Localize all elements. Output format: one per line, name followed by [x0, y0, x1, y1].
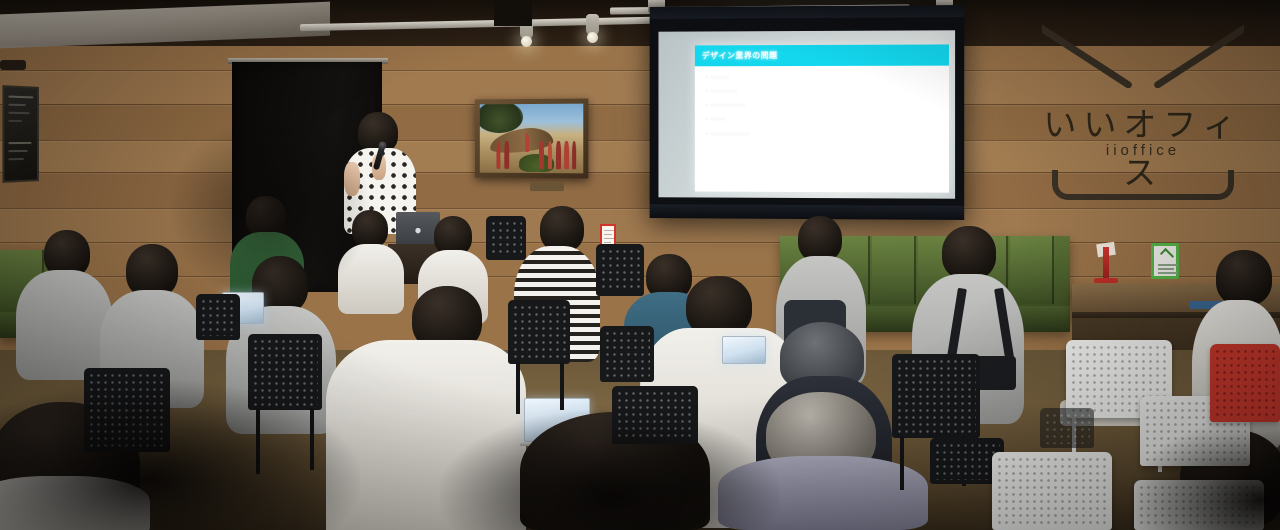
slide-title: デザイン業界の問題 [695, 50, 778, 61]
presentation-slide: デザイン業界の問題 ・○○○○○ ・○○○○○○○ ・○○○○○○○○○ ・○○… [695, 44, 949, 192]
chair-leg [560, 362, 564, 410]
chair [1040, 408, 1094, 448]
ceiling-vent [494, 0, 532, 26]
counter-red-foot [1094, 278, 1118, 283]
chair [508, 300, 570, 364]
wall-plank-seam [0, 242, 1280, 243]
chair [196, 294, 240, 340]
slide-bullet: ・○○○○○○○○○ [704, 102, 943, 109]
chair-leg [256, 408, 260, 474]
counter-red-stand [1103, 247, 1109, 280]
slide-bullet-list: ・○○○○○ ・○○○○○○○ ・○○○○○○○○○ ・○○○○ ・○○○○○○… [704, 74, 943, 145]
chair [612, 386, 698, 444]
slide-bullet: ・○○○○○○○ [704, 88, 943, 95]
slide-header-bar: デザイン業界の問題 [695, 44, 949, 66]
logo-roof-icon [1042, 14, 1244, 88]
white-chair [1134, 480, 1264, 530]
wall-hook [0, 60, 26, 70]
slide-bullet: ・○○○○○○○○○○ [704, 130, 943, 137]
apple-logo-icon [415, 226, 422, 234]
wall-plank [0, 208, 1280, 242]
chair-leg [516, 362, 520, 414]
slide-bullet: ・○○○○○ [704, 74, 943, 82]
wall-plank-seam [0, 208, 1280, 209]
counter-green-card [1151, 243, 1179, 279]
white-chair [992, 452, 1112, 530]
screen-surface: デザイン業界の問題 ・○○○○○ ・○○○○○○○ ・○○○○○○○○○ ・○○… [658, 30, 955, 198]
logo-base-icon [1052, 170, 1234, 200]
presentation-room-photo: デザイン業界の問題 ・○○○○○ ・○○○○○○○ ・○○○○○○○○○ ・○○… [0, 0, 1280, 530]
wall-shelf [530, 182, 564, 191]
laptop [722, 336, 766, 364]
chair-leg [900, 436, 904, 490]
screen-top-bar [650, 5, 965, 19]
chair [892, 354, 980, 438]
chair [600, 326, 654, 382]
spotlight-icon [586, 14, 599, 36]
logo-text-en: iioffice [1030, 142, 1256, 159]
chair [84, 368, 170, 452]
maasai-framed-photo [475, 99, 588, 179]
slide-bullet: ・○○○○ [704, 116, 943, 123]
chair-leg [310, 408, 314, 470]
red-chair [1210, 344, 1280, 422]
menu-chalkboard [2, 85, 39, 183]
chair [248, 334, 322, 410]
chair [596, 244, 644, 296]
iioffice-logo: いいオフィス iioffice [1030, 14, 1256, 206]
projection-screen: デザイン業界の問題 ・○○○○○ ・○○○○○○○ ・○○○○○○○○○ ・○○… [650, 5, 965, 220]
screen-bottom-bar [650, 204, 965, 220]
chair [486, 216, 526, 260]
